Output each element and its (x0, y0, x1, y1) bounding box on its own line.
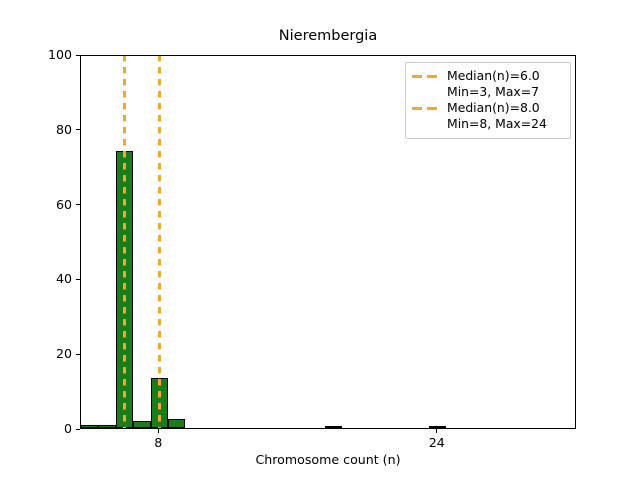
chart-legend: Median(n)=6.0Min=3, Max=7Median(n)=8.0Mi… (405, 62, 571, 139)
x-tick-mark (436, 429, 437, 433)
legend-dashed-line-icon (412, 69, 440, 84)
y-tick-label: 60 (0, 197, 72, 212)
legend-label: Median(n)=6.0Min=3, Max=7 (447, 68, 540, 99)
bar (429, 426, 446, 428)
chart-figure: Nierembergia Normalized num of counts (T… (0, 0, 640, 480)
median-line (158, 56, 161, 428)
legend-dashed-line-icon (412, 101, 440, 116)
y-tick-label: 0 (0, 421, 72, 436)
bar (133, 421, 150, 428)
x-tick-label: 8 (154, 435, 162, 450)
y-tick-label: 100 (0, 47, 72, 62)
x-tick-label: 24 (429, 435, 445, 450)
x-axis-label: Chromosome count (n) (80, 452, 576, 467)
bar (168, 419, 185, 428)
bar (98, 425, 115, 428)
chart-title: Nierembergia (80, 28, 576, 44)
median-line (123, 56, 126, 428)
y-tick-label: 80 (0, 122, 72, 137)
x-tick-mark (158, 429, 159, 433)
y-tick-label: 40 (0, 271, 72, 286)
bar (325, 426, 342, 428)
legend-entry: Median(n)=6.0Min=3, Max=7 (412, 68, 564, 99)
legend-entry: Median(n)=8.0Min=8, Max=24 (412, 100, 564, 131)
bar (81, 425, 98, 428)
y-tick-label: 20 (0, 346, 72, 361)
legend-label: Median(n)=8.0Min=8, Max=24 (447, 100, 547, 131)
